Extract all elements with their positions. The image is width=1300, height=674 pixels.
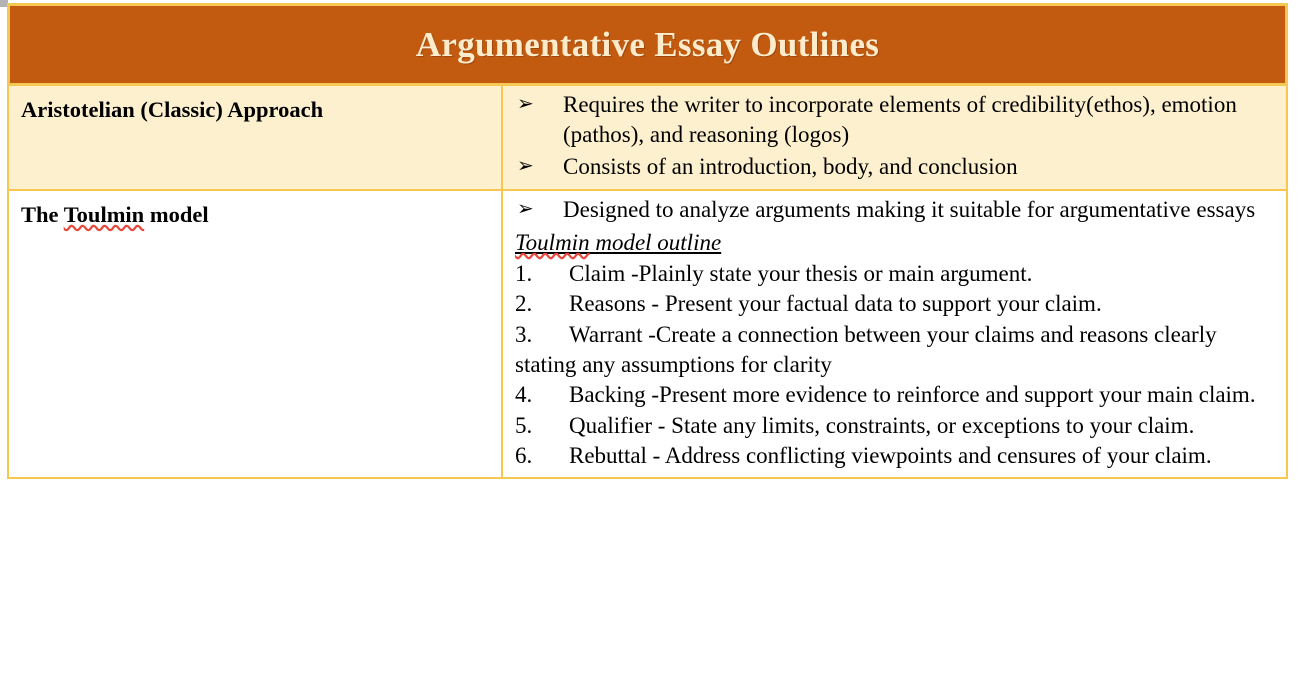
list-item: 6.Rebuttal - Address conflicting viewpoi… [515,441,1278,471]
list-item-text: Consists of an introduction, body, and c… [563,154,1018,179]
arrow-bullet-icon: ➢ [517,152,534,181]
row-content-cell-toulmin: ➢ Designed to analyze arguments making i… [502,190,1287,478]
list-item-text: Warrant -Create a connection between you… [515,322,1217,377]
list-item-number: 4. [515,380,569,410]
row-label-aristotelian: Aristotelian (Classic) Approach [21,90,493,123]
list-item: 4.Backing -Present more evidence to rein… [515,380,1278,410]
subheading-rest: model outline [590,230,722,255]
toulmin-bullet-list: ➢ Designed to analyze arguments making i… [515,195,1278,225]
list-item-number: 2. [515,289,569,319]
list-item: 2.Reasons - Present your factual data to… [515,289,1278,319]
row-label-toulmin: The Toulmin model [21,195,493,228]
list-item: 1.Claim -Plainly state your thesis or ma… [515,259,1278,289]
row-content-cell-aristotelian: ➢ Requires the writer to incorporate ele… [502,86,1287,190]
list-item-text: Claim -Plainly state your thesis or main… [569,261,1032,286]
outlines-body-table: Aristotelian (Classic) Approach ➢ Requir… [7,86,1288,479]
argumentative-essay-outlines-table: Argumentative Essay Outlines Aristotelia… [7,3,1288,479]
list-item: ➢ Requires the writer to incorporate ele… [515,90,1278,151]
aristotelian-bullet-list: ➢ Requires the writer to incorporate ele… [515,90,1278,182]
row-label-toulmin-misspelled: Toulmin [64,202,144,227]
subheading-misspelled: Toulmin [515,230,590,255]
list-item-text: Requires the writer to incorporate eleme… [563,92,1237,147]
list-item-text: Rebuttal - Address conflicting viewpoint… [569,443,1212,468]
row-label-toulmin-suffix: model [144,202,208,227]
row-label-cell-toulmin: The Toulmin model [8,190,502,478]
list-item: 3.Warrant -Create a connection between y… [515,320,1278,381]
list-item-number: 1. [515,259,569,289]
arrow-bullet-icon: ➢ [517,90,534,119]
toulmin-outline-subheading: Toulmin model outline [515,228,721,258]
list-item-text: Reasons - Present your factual data to s… [569,291,1102,316]
list-item-text: Qualifier - State any limits, constraint… [569,413,1194,438]
list-item: 5.Qualifier - State any limits, constrai… [515,411,1278,441]
arrow-bullet-icon: ➢ [517,195,534,224]
list-item: ➢ Consists of an introduction, body, and… [515,152,1278,182]
table-row-aristotelian: Aristotelian (Classic) Approach ➢ Requir… [8,86,1287,190]
page-title: Argumentative Essay Outlines [416,27,879,62]
list-item-number: 3. [515,320,569,350]
toulmin-numbered-list: 1.Claim -Plainly state your thesis or ma… [515,259,1278,472]
list-item-text: Backing -Present more evidence to reinfo… [569,382,1256,407]
list-item-text: Designed to analyze arguments making it … [563,197,1255,222]
table-header-banner: Argumentative Essay Outlines [7,3,1288,86]
list-item-number: 5. [515,411,569,441]
list-item-number: 6. [515,441,569,471]
row-label-cell-aristotelian: Aristotelian (Classic) Approach [8,86,502,190]
list-item: ➢ Designed to analyze arguments making i… [515,195,1278,225]
table-row-toulmin: The Toulmin model ➢ Designed to analyze … [8,190,1287,478]
row-label-toulmin-prefix: The [21,202,64,227]
